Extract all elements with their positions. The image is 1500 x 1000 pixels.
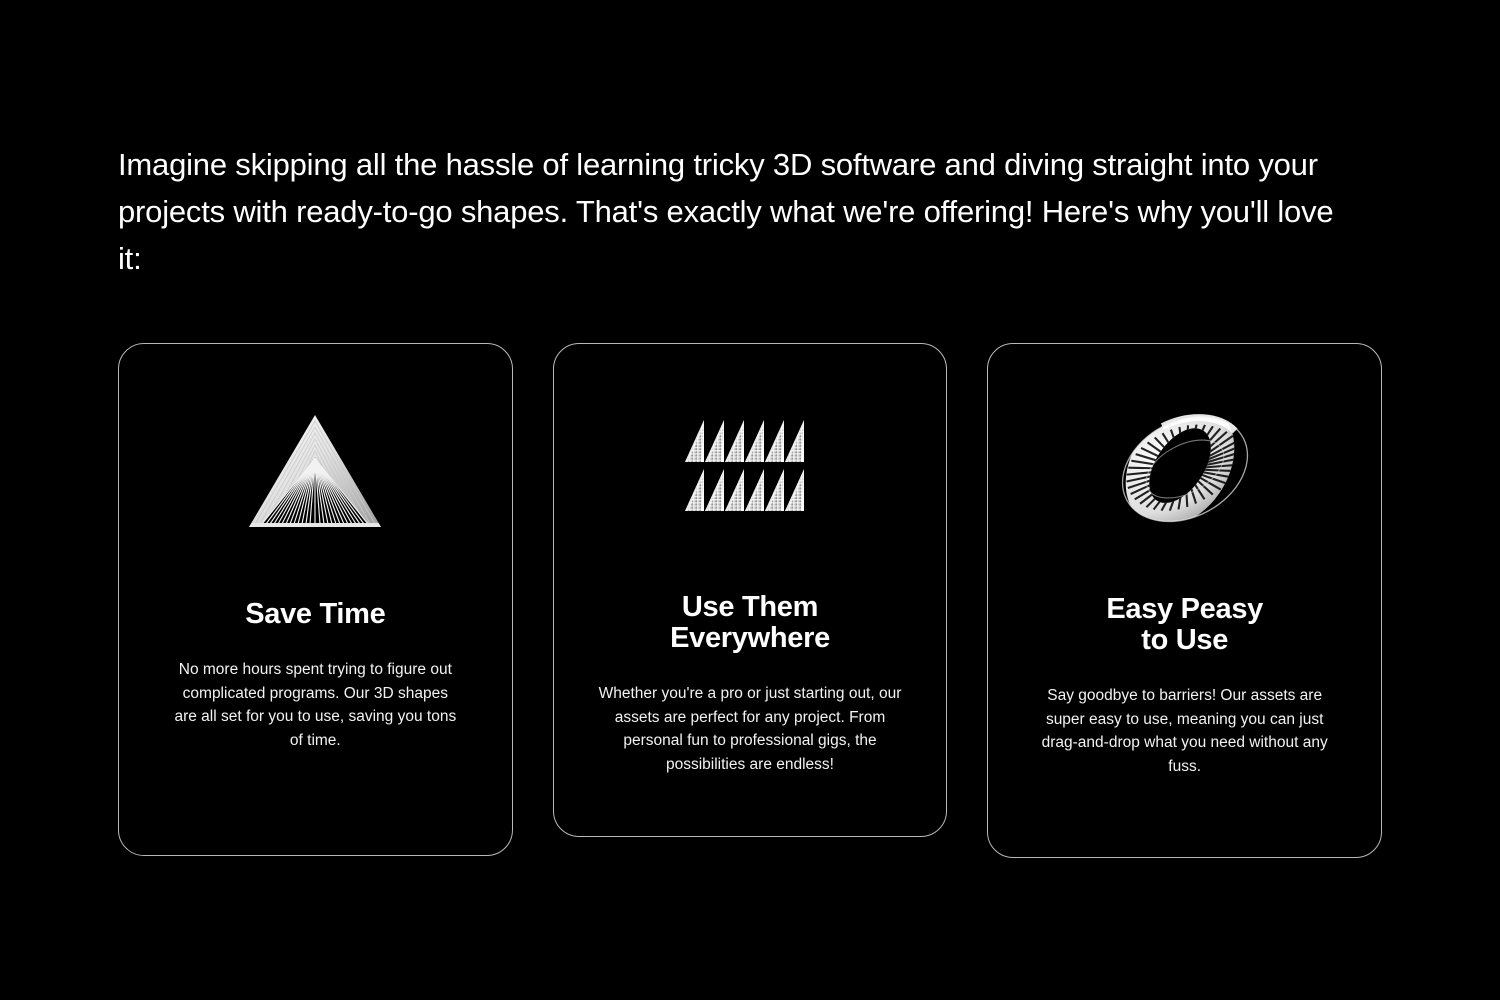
card-title: Use Them Everywhere — [670, 592, 830, 654]
feature-card-easy-peasy-to-use[interactable]: Easy Peasy to Use Say goodbye to barrier… — [987, 343, 1382, 858]
triangle-grid-icon — [685, 418, 815, 518]
ribbed-torus-icon — [1112, 409, 1258, 529]
intro-paragraph: Imagine skipping all the hassle of learn… — [118, 141, 1338, 282]
feature-card-save-time[interactable]: Save Time No more hours spent trying to … — [118, 343, 513, 856]
card-description: Whether you're a pro or just starting ou… — [591, 682, 909, 776]
feature-card-use-them-everywhere[interactable]: Use Them Everywhere Whether you're a pro… — [553, 343, 948, 837]
card-icon-wrapper — [580, 344, 921, 592]
card-title: Easy Peasy to Use — [1106, 594, 1263, 656]
card-title: Save Time — [245, 599, 385, 630]
card-icon-wrapper — [1014, 344, 1355, 594]
feature-card-row: Save Time No more hours spent trying to … — [118, 343, 1382, 858]
card-description: Say goodbye to barriers! Our assets are … — [1035, 684, 1335, 778]
card-icon-wrapper — [145, 344, 486, 599]
radiating-pyramid-icon — [245, 409, 385, 534]
card-description: No more hours spent trying to figure out… — [170, 658, 460, 752]
